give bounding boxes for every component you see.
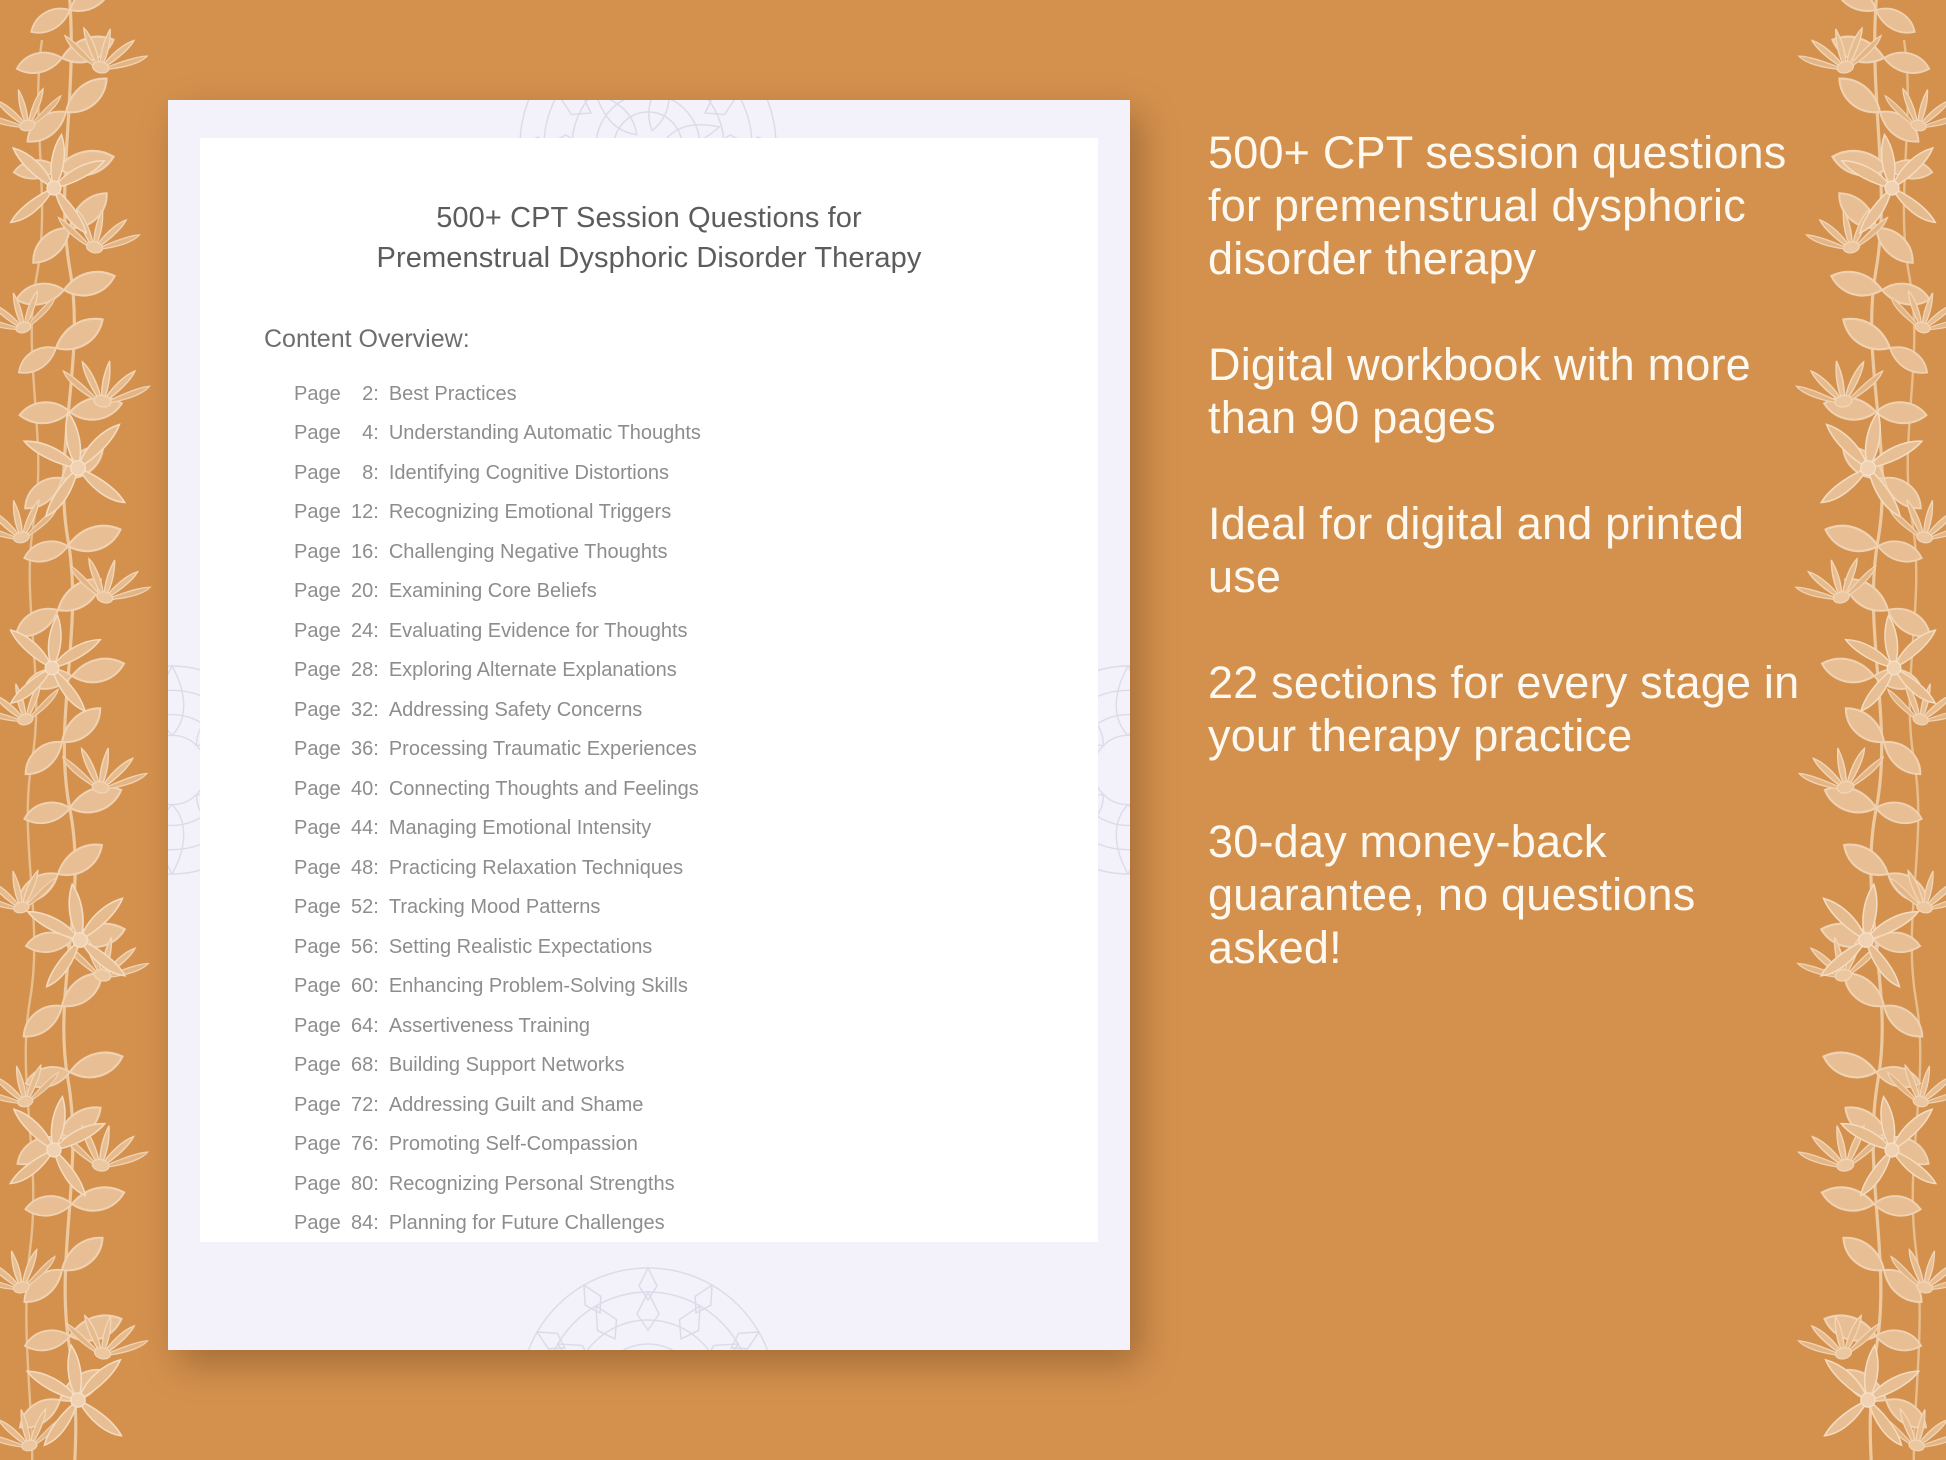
toc-entry: Page 76:Promoting Self-Compassion bbox=[294, 1125, 1098, 1165]
toc-separator: : bbox=[373, 936, 379, 958]
toc-page-word: Page bbox=[294, 383, 341, 405]
toc-page-word: Page bbox=[294, 699, 341, 721]
toc-separator: : bbox=[373, 738, 379, 760]
toc-page-number: 44 bbox=[346, 809, 373, 849]
page-title-line-1: 500+ CPT Session Questions for bbox=[436, 202, 862, 234]
toc-entry-title: Exploring Alternate Explanations bbox=[379, 659, 677, 681]
toc-page-word: Page bbox=[294, 1212, 341, 1234]
toc-separator: : bbox=[373, 1173, 379, 1195]
marketing-feature-4: 22 sections for every stage in your ther… bbox=[1208, 656, 1803, 762]
toc-entry: Page 48:Practicing Relaxation Techniques bbox=[294, 849, 1098, 889]
toc-page-number: 16 bbox=[346, 533, 373, 573]
toc-separator: : bbox=[373, 1054, 379, 1076]
toc-page-word: Page bbox=[294, 896, 341, 918]
toc-entry-title: Enhancing Problem-Solving Skills bbox=[379, 975, 688, 997]
toc-page-word: Page bbox=[294, 422, 341, 444]
toc-separator: : bbox=[373, 817, 379, 839]
toc-entry-title: Identifying Cognitive Distortions bbox=[379, 462, 669, 484]
toc-page-word: Page bbox=[294, 1054, 341, 1076]
toc-page-number: 28 bbox=[346, 651, 373, 691]
toc-entry-title: Building Support Networks bbox=[379, 1054, 625, 1076]
toc-entry-title: Processing Traumatic Experiences bbox=[379, 738, 697, 760]
toc-page-number: 80 bbox=[346, 1165, 373, 1205]
toc-page-number: 2 bbox=[346, 375, 373, 415]
toc-entry-title: Tracking Mood Patterns bbox=[379, 896, 601, 918]
toc-page-number: 68 bbox=[346, 1046, 373, 1086]
toc-page-number: 20 bbox=[346, 572, 373, 612]
toc-separator: : bbox=[373, 1212, 379, 1234]
toc-entry: Page 12:Recognizing Emotional Triggers bbox=[294, 493, 1098, 533]
toc-separator: : bbox=[373, 541, 379, 563]
floral-border-left bbox=[0, 0, 172, 1460]
marketing-feature-5: 30-day money-back guarantee, no question… bbox=[1208, 815, 1803, 974]
toc-entry-title: Practicing Relaxation Techniques bbox=[379, 857, 683, 879]
toc-entry-title: Managing Emotional Intensity bbox=[379, 817, 651, 839]
toc-separator: : bbox=[373, 857, 379, 879]
marketing-feature-1: 500+ CPT session questions for premenstr… bbox=[1208, 126, 1803, 285]
toc-page-number: 64 bbox=[346, 1007, 373, 1047]
toc-page-word: Page bbox=[294, 580, 341, 602]
table-of-contents: Page 2:Best PracticesPage 4:Understandin… bbox=[294, 375, 1098, 1242]
toc-entry: Page 36:Processing Traumatic Experiences bbox=[294, 730, 1098, 770]
marketing-feature-list: 500+ CPT session questions for premenstr… bbox=[1208, 126, 1803, 974]
toc-separator: : bbox=[373, 422, 379, 444]
toc-entry-title: Connecting Thoughts and Feelings bbox=[379, 778, 699, 800]
toc-entry: Page 28:Exploring Alternate Explanations bbox=[294, 651, 1098, 691]
toc-separator: : bbox=[373, 620, 379, 642]
content-overview-label: Content Overview: bbox=[264, 325, 1098, 354]
toc-page-word: Page bbox=[294, 462, 341, 484]
toc-separator: : bbox=[373, 1133, 379, 1155]
toc-entry-title: Recognizing Emotional Triggers bbox=[379, 501, 671, 523]
toc-separator: : bbox=[373, 501, 379, 523]
toc-page-number: 56 bbox=[346, 928, 373, 968]
toc-separator: : bbox=[373, 462, 379, 484]
toc-separator: : bbox=[373, 1094, 379, 1116]
toc-page-number: 32 bbox=[346, 691, 373, 731]
toc-page-number: 52 bbox=[346, 888, 373, 928]
toc-entry-title: Setting Realistic Expectations bbox=[379, 936, 652, 958]
toc-entry: Page 4:Understanding Automatic Thoughts bbox=[294, 414, 1098, 454]
toc-page-number: 60 bbox=[346, 967, 373, 1007]
toc-page-word: Page bbox=[294, 541, 341, 563]
toc-entry-title: Understanding Automatic Thoughts bbox=[379, 422, 701, 444]
page-title: 500+ CPT Session Questions for Premenstr… bbox=[200, 203, 1098, 275]
toc-separator: : bbox=[373, 699, 379, 721]
toc-entry: Page 2:Best Practices bbox=[294, 375, 1098, 415]
toc-entry-title: Addressing Guilt and Shame bbox=[379, 1094, 644, 1116]
toc-separator: : bbox=[373, 778, 379, 800]
toc-page-word: Page bbox=[294, 778, 341, 800]
toc-page-word: Page bbox=[294, 975, 341, 997]
toc-page-number: 8 bbox=[346, 454, 373, 494]
toc-entry: Page 24:Evaluating Evidence for Thoughts bbox=[294, 612, 1098, 652]
toc-page-number: 36 bbox=[346, 730, 373, 770]
toc-separator: : bbox=[373, 580, 379, 602]
toc-page-word: Page bbox=[294, 1173, 341, 1195]
toc-page-word: Page bbox=[294, 1015, 341, 1037]
marketing-feature-3: Ideal for digital and printed use bbox=[1208, 497, 1803, 603]
toc-separator: : bbox=[373, 383, 379, 405]
toc-entry-title: Recognizing Personal Strengths bbox=[379, 1173, 675, 1195]
toc-page-word: Page bbox=[294, 1133, 341, 1155]
toc-page-number: 76 bbox=[346, 1125, 373, 1165]
toc-page-number: 12 bbox=[346, 493, 373, 533]
toc-page-number: 40 bbox=[346, 770, 373, 810]
toc-separator: : bbox=[373, 659, 379, 681]
toc-entry: Page 16:Challenging Negative Thoughts bbox=[294, 533, 1098, 573]
toc-entry-title: Addressing Safety Concerns bbox=[379, 699, 642, 721]
toc-entry-title: Examining Core Beliefs bbox=[379, 580, 597, 602]
toc-page-word: Page bbox=[294, 857, 341, 879]
toc-entry: Page 80:Recognizing Personal Strengths bbox=[294, 1165, 1098, 1205]
toc-page-word: Page bbox=[294, 659, 341, 681]
toc-page-word: Page bbox=[294, 1094, 341, 1116]
toc-entry: Page 68:Building Support Networks bbox=[294, 1046, 1098, 1086]
toc-entry-title: Challenging Negative Thoughts bbox=[379, 541, 668, 563]
toc-page-word: Page bbox=[294, 501, 341, 523]
toc-entry: Page 72:Addressing Guilt and Shame bbox=[294, 1086, 1098, 1126]
page-title-line-2: Premenstrual Dysphoric Disorder Therapy bbox=[200, 243, 1098, 275]
toc-entry: Page 32:Addressing Safety Concerns bbox=[294, 691, 1098, 731]
toc-entry: Page 56:Setting Realistic Expectations bbox=[294, 928, 1098, 968]
toc-page-word: Page bbox=[294, 817, 341, 839]
toc-page-number: 24 bbox=[346, 612, 373, 652]
toc-page-number: 72 bbox=[346, 1086, 373, 1126]
document-page: 500+ CPT Session Questions for Premenstr… bbox=[200, 138, 1098, 1242]
toc-entry-title: Planning for Future Challenges bbox=[379, 1212, 665, 1234]
toc-page-number: 48 bbox=[346, 849, 373, 889]
toc-entry: Page 40:Connecting Thoughts and Feelings bbox=[294, 770, 1098, 810]
toc-page-word: Page bbox=[294, 936, 341, 958]
toc-entry-title: Evaluating Evidence for Thoughts bbox=[379, 620, 688, 642]
toc-separator: : bbox=[373, 1015, 379, 1037]
toc-entry-title: Promoting Self-Compassion bbox=[379, 1133, 638, 1155]
toc-entry: Page 44:Managing Emotional Intensity bbox=[294, 809, 1098, 849]
toc-page-word: Page bbox=[294, 620, 341, 642]
toc-separator: : bbox=[373, 975, 379, 997]
marketing-feature-2: Digital workbook with more than 90 pages bbox=[1208, 338, 1803, 444]
toc-entry: Page 64:Assertiveness Training bbox=[294, 1007, 1098, 1047]
toc-entry: Page 52:Tracking Mood Patterns bbox=[294, 888, 1098, 928]
document-preview-card[interactable]: 500+ CPT Session Questions for Premenstr… bbox=[168, 100, 1130, 1350]
toc-separator: : bbox=[373, 896, 379, 918]
toc-entry: Page 8:Identifying Cognitive Distortions bbox=[294, 454, 1098, 494]
toc-page-word: Page bbox=[294, 738, 341, 760]
toc-entry-title: Assertiveness Training bbox=[379, 1015, 590, 1037]
toc-entry: Page 60:Enhancing Problem-Solving Skills bbox=[294, 967, 1098, 1007]
toc-entry: Page 20:Examining Core Beliefs bbox=[294, 572, 1098, 612]
toc-entry: Page 84:Planning for Future Challenges bbox=[294, 1204, 1098, 1242]
toc-page-number: 84 bbox=[346, 1204, 373, 1242]
toc-page-number: 4 bbox=[346, 414, 373, 454]
toc-entry-title: Best Practices bbox=[379, 383, 517, 405]
